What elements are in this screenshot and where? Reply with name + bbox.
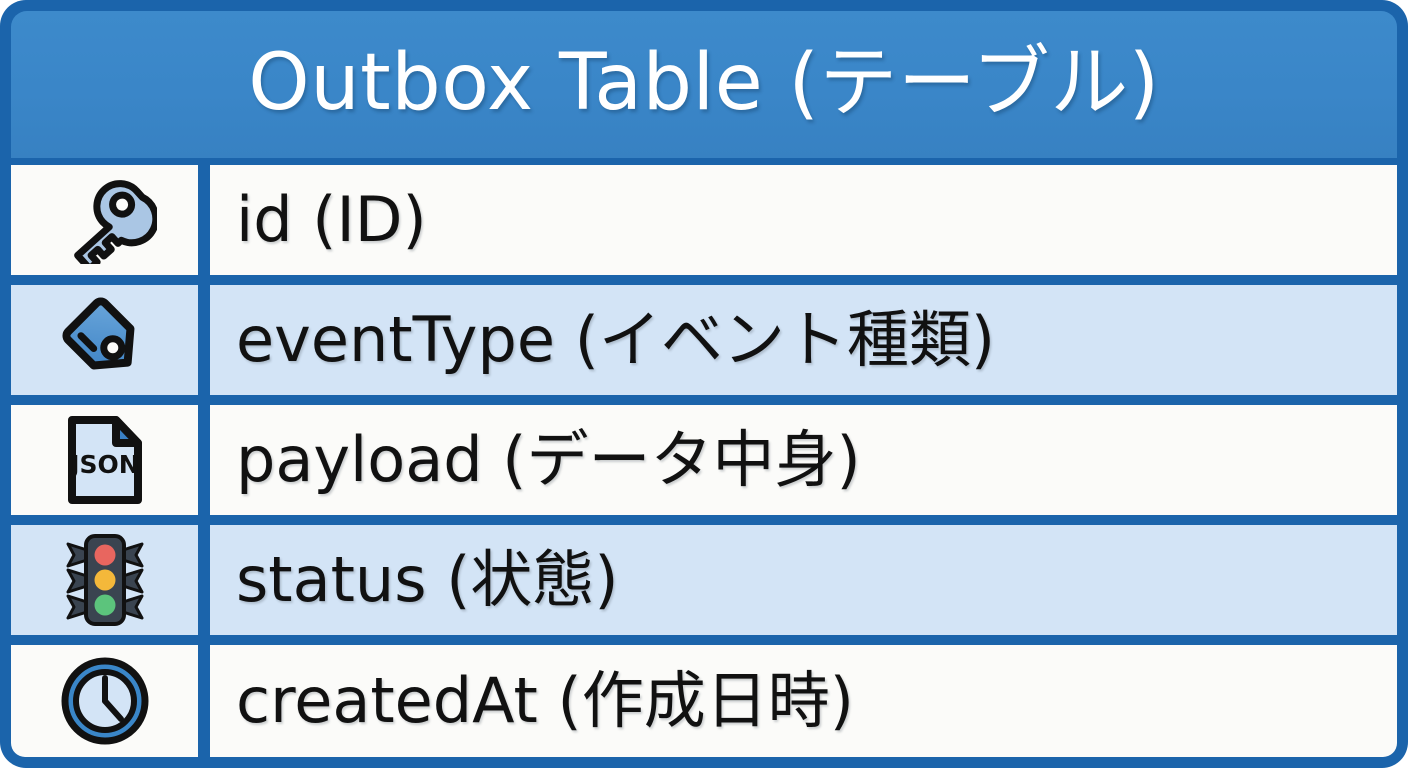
clock-icon	[57, 653, 153, 749]
field-name-id: id (ID)	[236, 189, 427, 251]
table-rows: id (ID)	[0, 160, 1408, 768]
row-label-cell: id (ID)	[210, 165, 1397, 275]
table-row[interactable]: createdAt (作成日時)	[0, 640, 1408, 768]
row-icon-cell	[11, 165, 198, 275]
row-label-cell: status (状態)	[210, 525, 1397, 635]
key-icon	[53, 176, 157, 264]
table-row[interactable]: status (状態)	[0, 520, 1408, 640]
row-icon-cell	[11, 645, 198, 757]
field-name-payload: payload (データ中身)	[236, 429, 861, 491]
row-label-cell: payload (データ中身)	[210, 405, 1397, 515]
json-file-icon: JSON	[62, 410, 148, 510]
row-label-cell: eventType (イベント種類)	[210, 285, 1397, 395]
traffic-light-icon	[60, 528, 150, 632]
field-name-status: status (状態)	[236, 549, 619, 611]
row-icon-cell	[11, 525, 198, 635]
table-row[interactable]: JSON payload (データ中身)	[0, 400, 1408, 520]
row-icon-cell	[11, 285, 198, 395]
page-title: Outbox Table (テーブル)	[248, 44, 1159, 122]
row-icon-cell: JSON	[11, 405, 198, 515]
outbox-table-card: Outbox Table (テーブル) id (ID)	[0, 0, 1408, 768]
table-row[interactable]: eventType (イベント種類)	[0, 280, 1408, 400]
field-name-createdat: createdAt (作成日時)	[236, 670, 854, 732]
row-label-cell: createdAt (作成日時)	[210, 645, 1397, 757]
table-row[interactable]: id (ID)	[0, 160, 1408, 280]
tag-icon	[53, 290, 157, 390]
table-header-banner: Outbox Table (テーブル)	[11, 11, 1397, 158]
json-file-icon-text: JSON	[68, 450, 139, 479]
field-name-eventtype: eventType (イベント種類)	[236, 309, 995, 371]
